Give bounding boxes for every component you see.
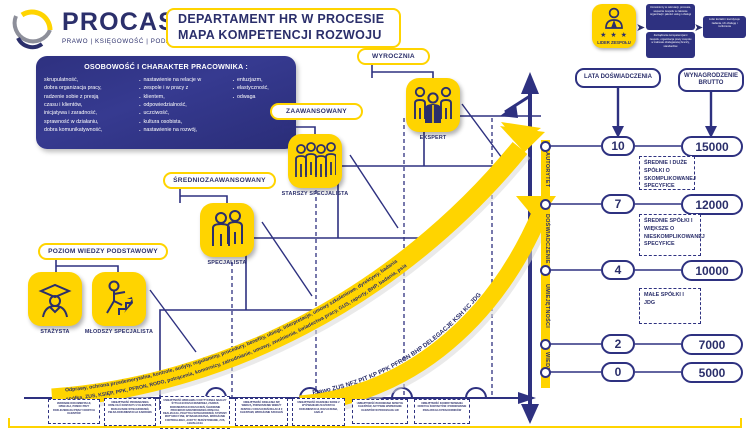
- four-people-icon[interactable]: [288, 134, 342, 188]
- segment-box-large: ŚREDNIE I DUŻE SPÓŁKI O SKOMPLIKOWANEJ S…: [639, 156, 695, 190]
- axis-node: [540, 367, 551, 378]
- two-people-icon[interactable]: [200, 203, 254, 257]
- role-label-mlodszy-specjalista: MŁODSZY SPECJALISTA: [76, 329, 162, 335]
- pay-value: 7000: [681, 334, 743, 355]
- person-climbing-stairs-icon[interactable]: [92, 272, 146, 326]
- competence-label-doswiadczenie: DOŚWIADCZENIE: [541, 206, 550, 272]
- pay-value: 5000: [681, 362, 743, 383]
- pay-value: 10000: [681, 260, 743, 281]
- segment-box-medium: ŚREDNIE SPÓŁKI I WIĘKSZE O NIESKOMPLIKOW…: [639, 214, 701, 256]
- pay-header-pill[interactable]: WYNAGRODZENIE BRUTTO: [678, 68, 744, 92]
- level-label-mid[interactable]: ŚREDNIOZAAWANSOWANY: [163, 172, 276, 189]
- axis-node: [540, 141, 551, 152]
- pay-value: 15000: [681, 136, 743, 157]
- level-label-oracle[interactable]: WYROCZNIA: [357, 48, 430, 65]
- three-people-leader-icon[interactable]: [406, 78, 460, 132]
- segment-box-small: MAŁE SPÓŁKI I JDG: [639, 288, 701, 324]
- level-label-advanced[interactable]: ZAAWANSOWANY: [270, 103, 363, 120]
- role-label-ekspert: EKSPERT: [392, 135, 474, 141]
- years-value: 2: [601, 334, 635, 354]
- years-header-pill[interactable]: LATA DOŚWIADCZENIA: [575, 68, 661, 88]
- connector-lines: Odprawy, ochrona przedemerytalna, kontro…: [0, 0, 750, 434]
- bottom-frame-accent: [8, 418, 742, 428]
- years-value: 10: [601, 136, 635, 156]
- level-label-basic[interactable]: POZIOM WIEDZY PODSTAWOWY: [38, 243, 168, 260]
- years-value: 4: [601, 260, 635, 280]
- pay-value: 12000: [681, 194, 743, 215]
- axis-node: [540, 199, 551, 210]
- years-value: 0: [601, 362, 635, 382]
- axis-node: [540, 339, 551, 350]
- role-label-starszy-specjalista: STARSZY SPECJALISTA: [269, 191, 361, 197]
- years-value: 7: [601, 194, 635, 214]
- axis-node: [540, 265, 551, 276]
- role-label-specjalista: SPECJALISTA: [186, 260, 268, 266]
- infographic-canvas: PROCASE PRAWO | KSIĘGOWOŚĆ | PODATKI DEP…: [0, 0, 750, 434]
- graduate-person-icon[interactable]: [28, 272, 82, 326]
- competence-label-umiejetnosci: UMIEJĘTNOŚCI: [541, 274, 550, 338]
